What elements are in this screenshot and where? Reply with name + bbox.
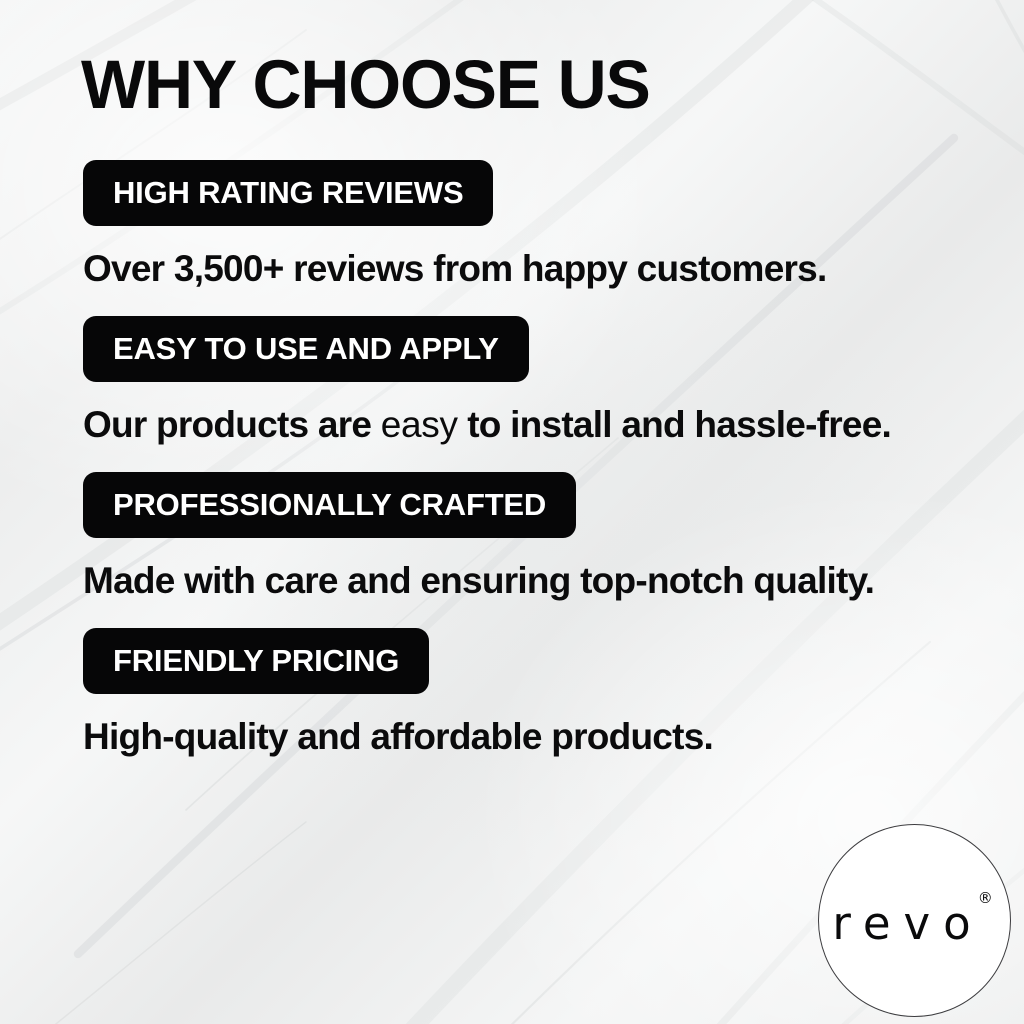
feature-item-friendly-pricing: FRIENDLY PRICING High-quality and afford… xyxy=(0,628,1024,755)
feature-item-high-rating-reviews: HIGH RATING REVIEWS Over 3,500+ reviews … xyxy=(0,160,1024,287)
feature-description-friendly-pricing: High-quality and affordable products. xyxy=(83,718,1024,755)
feature-badge-friendly-pricing: FRIENDLY PRICING xyxy=(83,628,429,694)
feature-description-text-tail: to install and hassle-free. xyxy=(458,404,891,445)
poster-canvas: WHY CHOOSE US HIGH RATING REVIEWS Over 3… xyxy=(0,0,1024,1024)
feature-description-high-rating-reviews: Over 3,500+ reviews from happy customers… xyxy=(83,250,1024,287)
brand-logo: revo ® xyxy=(818,824,1011,1017)
feature-item-professionally-crafted: PROFESSIONALLY CRAFTED Made with care an… xyxy=(0,472,1024,599)
feature-item-easy-to-use-and-apply: EASY TO USE AND APPLY Our products are e… xyxy=(0,316,1024,443)
feature-badge-high-rating-reviews: HIGH RATING REVIEWS xyxy=(83,160,493,226)
feature-description-professionally-crafted: Made with care and ensuring top-notch qu… xyxy=(83,562,1024,599)
feature-description-text-emphasis: easy xyxy=(381,404,458,445)
feature-badge-easy-to-use-and-apply: EASY TO USE AND APPLY xyxy=(83,316,529,382)
page-title: WHY CHOOSE US xyxy=(81,50,650,119)
feature-description-text-lead: Our products are xyxy=(83,404,381,445)
feature-description-text: Over 3,500+ reviews from happy customers… xyxy=(83,248,827,289)
feature-description-easy-to-use-and-apply: Our products are easy to install and has… xyxy=(83,406,1024,443)
feature-description-text: High-quality and affordable products. xyxy=(83,716,713,757)
brand-logo-inner: revo ® xyxy=(832,901,992,946)
brand-wordmark: revo xyxy=(832,901,983,946)
poster-content: WHY CHOOSE US HIGH RATING REVIEWS Over 3… xyxy=(0,0,1024,1024)
feature-badge-professionally-crafted: PROFESSIONALLY CRAFTED xyxy=(83,472,576,538)
feature-description-text: Made with care and ensuring top-notch qu… xyxy=(83,560,874,601)
registered-trademark-icon: ® xyxy=(978,891,993,906)
feature-list: HIGH RATING REVIEWS Over 3,500+ reviews … xyxy=(0,160,1024,755)
